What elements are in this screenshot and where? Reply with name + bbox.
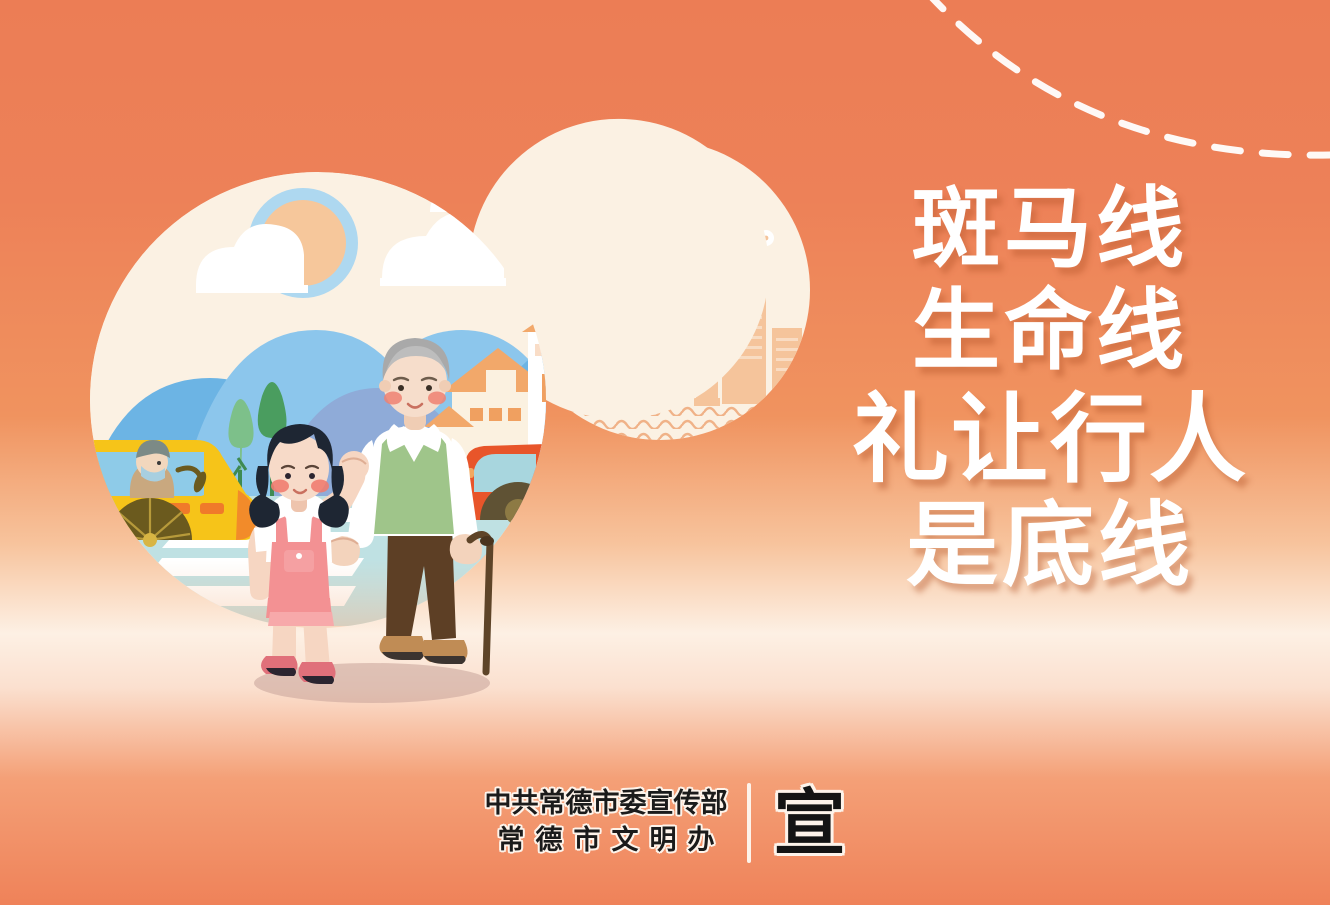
slogan-block: 斑马线 生命线 礼让行人 是底线 bbox=[790, 185, 1310, 592]
footer-divider bbox=[747, 783, 751, 863]
org-line-2: 常德市文明办 bbox=[486, 823, 725, 860]
slogan-line-4: 是底线 bbox=[790, 500, 1310, 592]
org-line-1: 中共常德市委宣传部 bbox=[484, 786, 727, 823]
red-car bbox=[458, 444, 600, 525]
poster-root: 斑马线 生命线 礼让行人 是底线 中共常德市委宣传部 常德市文明办 宣 bbox=[0, 0, 1330, 905]
seal-character: 宣 bbox=[773, 787, 845, 859]
slogan-line-1: 斑马线 bbox=[790, 185, 1310, 273]
footer-credit-block: 中共常德市委宣传部 常德市文明办 宣 bbox=[0, 768, 1330, 878]
slogan-line-2: 生命线 bbox=[790, 287, 1310, 375]
slogan-line-3: 礼让行人 bbox=[790, 391, 1310, 488]
issuing-organizations: 中共常德市委宣传部 常德市文明办 bbox=[484, 786, 727, 859]
